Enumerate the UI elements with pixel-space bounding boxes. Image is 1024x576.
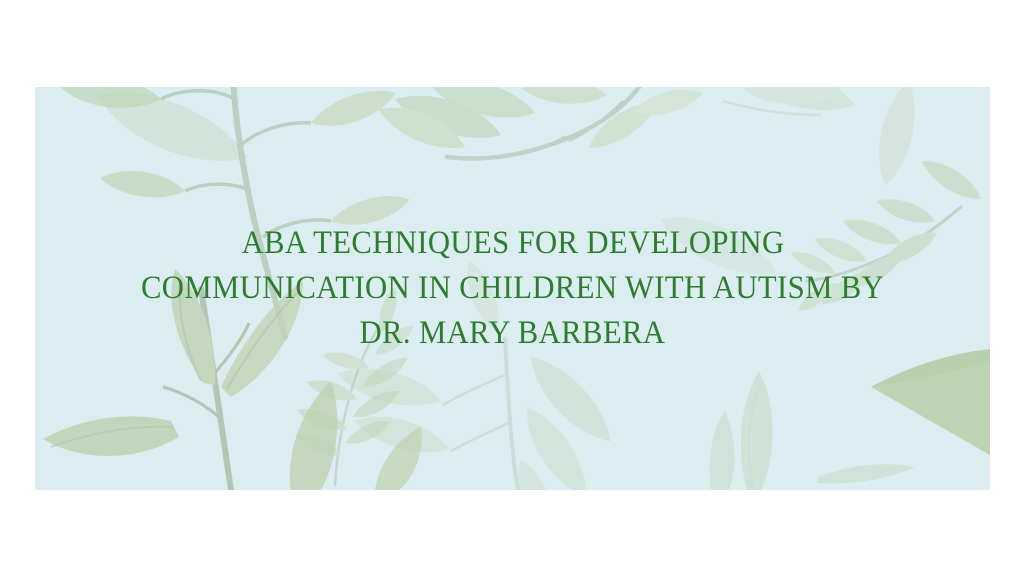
slide-title-line-2: COMMUNICATION IN CHILDREN WITH AUTISM BY xyxy=(141,266,884,311)
slide-panel: ABA TECHNIQUES FOR DEVELOPING COMMUNICAT… xyxy=(35,87,990,490)
slide-canvas: ABA TECHNIQUES FOR DEVELOPING COMMUNICAT… xyxy=(0,0,1024,576)
slide-title-block: ABA TECHNIQUES FOR DEVELOPING COMMUNICAT… xyxy=(35,87,990,490)
slide-title-line-3: DR. MARY BARBERA xyxy=(360,311,666,356)
slide-title-line-1: ABA TECHNIQUES FOR DEVELOPING xyxy=(241,221,784,266)
